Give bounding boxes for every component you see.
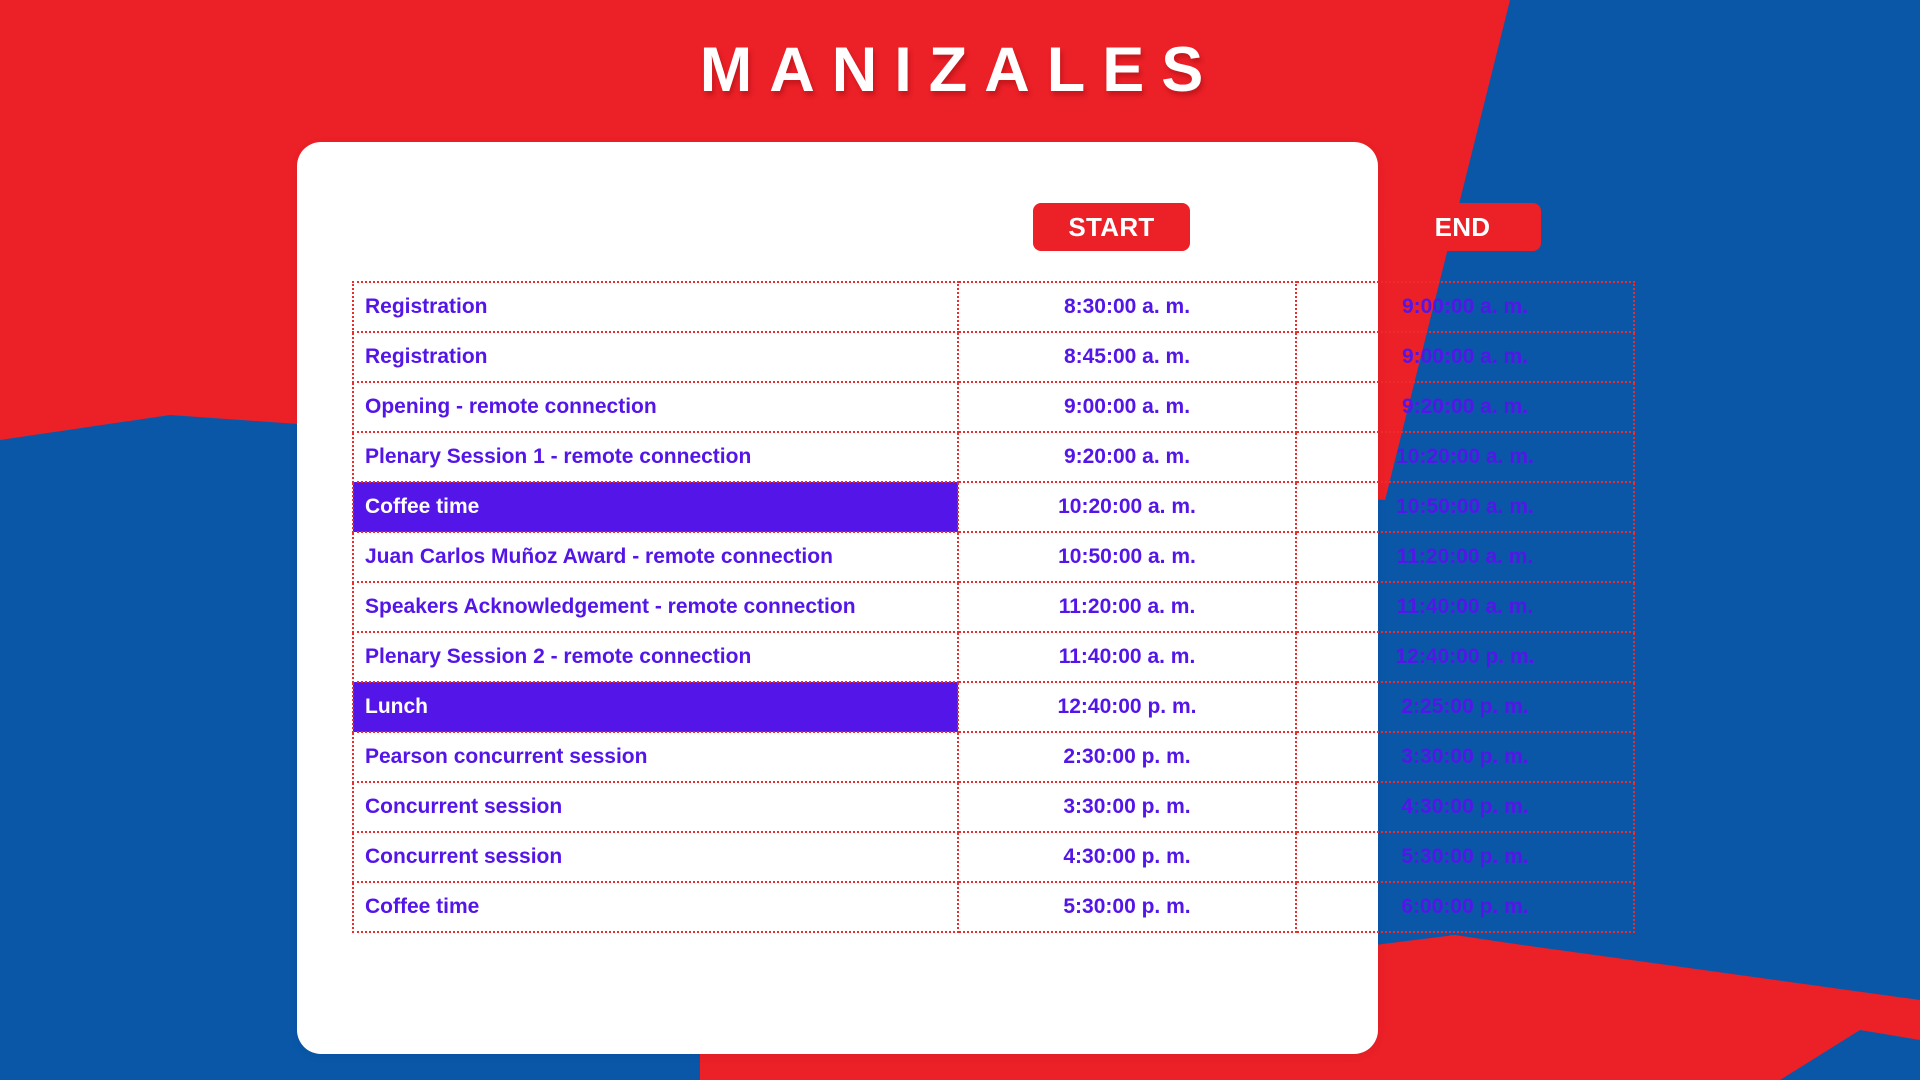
end-time-cell: 4:30:00 p. m. (1296, 782, 1634, 832)
table-row: Plenary Session 2 - remote connection11:… (353, 632, 1634, 682)
table-row: Concurrent session3:30:00 p. m.4:30:00 p… (353, 782, 1634, 832)
start-time-cell: 5:30:00 p. m. (958, 882, 1296, 932)
table-row: Concurrent session4:30:00 p. m.5:30:00 p… (353, 832, 1634, 882)
table-row: Plenary Session 1 - remote connection9:2… (353, 432, 1634, 482)
activity-cell: Lunch (353, 682, 958, 732)
start-time-cell: 9:20:00 a. m. (958, 432, 1296, 482)
start-time-cell: 4:30:00 p. m. (958, 832, 1296, 882)
end-time-cell: 11:20:00 a. m. (1296, 532, 1634, 582)
end-time-cell: 11:40:00 a. m. (1296, 582, 1634, 632)
start-time-cell: 2:30:00 p. m. (958, 732, 1296, 782)
start-time-cell: 8:45:00 a. m. (958, 332, 1296, 382)
activity-cell: Pearson concurrent session (353, 732, 958, 782)
table-row: Opening - remote connection9:00:00 a. m.… (353, 382, 1634, 432)
end-time-cell: 5:30:00 p. m. (1296, 832, 1634, 882)
activity-cell: Opening - remote connection (353, 382, 958, 432)
end-time-cell: 10:50:00 a. m. (1296, 482, 1634, 532)
end-time-cell: 6:00:00 p. m. (1296, 882, 1634, 932)
table-row: Pearson concurrent session2:30:00 p. m.3… (353, 732, 1634, 782)
start-time-cell: 10:20:00 a. m. (958, 482, 1296, 532)
table-row: Lunch12:40:00 p. m.2:25:00 p. m. (353, 682, 1634, 732)
start-column-button[interactable]: START (1033, 203, 1190, 251)
start-time-cell: 8:30:00 a. m. (958, 282, 1296, 332)
table-row: Coffee time5:30:00 p. m.6:00:00 p. m. (353, 882, 1634, 932)
end-time-cell: 10:20:00 a. m. (1296, 432, 1634, 482)
end-time-cell: 2:25:00 p. m. (1296, 682, 1634, 732)
end-time-cell: 9:20:00 a. m. (1296, 382, 1634, 432)
schedule-table: Registration8:30:00 a. m.9:00:00 a. m.Re… (352, 281, 1635, 933)
activity-cell: Registration (353, 332, 958, 382)
activity-cell: Coffee time (353, 482, 958, 532)
activity-cell: Plenary Session 1 - remote connection (353, 432, 958, 482)
end-time-cell: 3:30:00 p. m. (1296, 732, 1634, 782)
end-time-cell: 12:40:00 p. m. (1296, 632, 1634, 682)
end-column-button[interactable]: END (1384, 203, 1541, 251)
start-time-cell: 3:30:00 p. m. (958, 782, 1296, 832)
activity-cell: Juan Carlos Muñoz Award - remote connect… (353, 532, 958, 582)
end-time-cell: 9:00:00 a. m. (1296, 282, 1634, 332)
activity-cell: Concurrent session (353, 832, 958, 882)
activity-cell: Speakers Acknowledgement - remote connec… (353, 582, 958, 632)
activity-cell: Plenary Session 2 - remote connection (353, 632, 958, 682)
table-row: Coffee time10:20:00 a. m.10:50:00 a. m. (353, 482, 1634, 532)
table-row: Juan Carlos Muñoz Award - remote connect… (353, 532, 1634, 582)
start-time-cell: 10:50:00 a. m. (958, 532, 1296, 582)
activity-cell: Concurrent session (353, 782, 958, 832)
end-time-cell: 9:00:00 a. m. (1296, 332, 1634, 382)
column-header-buttons: START END (352, 203, 1616, 251)
start-time-cell: 11:20:00 a. m. (958, 582, 1296, 632)
activity-cell: Coffee time (353, 882, 958, 932)
activity-cell: Registration (353, 282, 958, 332)
table-row: Registration8:45:00 a. m.9:00:00 a. m. (353, 332, 1634, 382)
schedule-table-body: Registration8:30:00 a. m.9:00:00 a. m.Re… (353, 282, 1634, 932)
start-time-cell: 9:00:00 a. m. (958, 382, 1296, 432)
table-row: Speakers Acknowledgement - remote connec… (353, 582, 1634, 632)
table-row: Registration8:30:00 a. m.9:00:00 a. m. (353, 282, 1634, 332)
start-time-cell: 11:40:00 a. m. (958, 632, 1296, 682)
start-time-cell: 12:40:00 p. m. (958, 682, 1296, 732)
